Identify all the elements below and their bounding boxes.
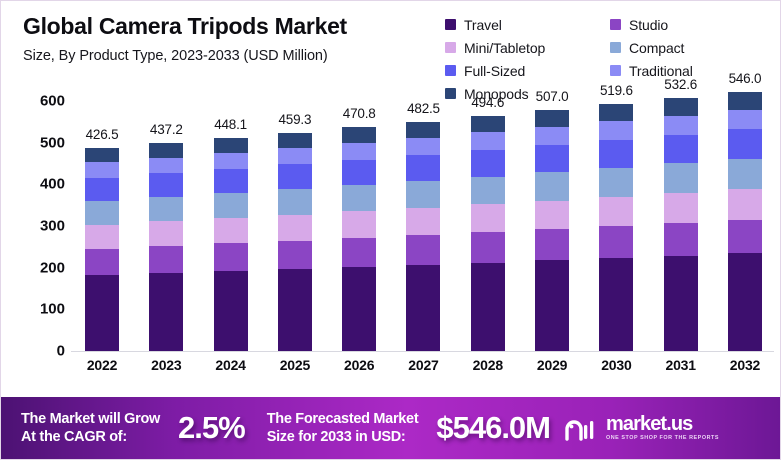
- bar-segment[interactable]: [599, 197, 633, 226]
- bar-segment[interactable]: [149, 158, 183, 174]
- bar-group[interactable]: 426.5: [71, 101, 133, 351]
- bar-segment[interactable]: [664, 163, 698, 193]
- bar-segment[interactable]: [214, 169, 248, 193]
- y-axis-tick-label: 300: [40, 218, 65, 235]
- bar-total-label: 459.3: [264, 112, 326, 127]
- bar-segment[interactable]: [471, 150, 505, 177]
- legend-swatch-icon: [445, 65, 456, 76]
- bar-group[interactable]: 470.8: [328, 101, 390, 351]
- bar-segment[interactable]: [85, 249, 119, 275]
- y-axis-tick-label: 0: [57, 343, 65, 360]
- legend-item-label: Travel: [464, 17, 502, 33]
- bar-segment[interactable]: [599, 104, 633, 121]
- legend-item[interactable]: Compact: [610, 36, 775, 59]
- bar-segment[interactable]: [728, 129, 762, 158]
- y-axis-tick-label: 600: [40, 93, 65, 110]
- bar-segment[interactable]: [278, 215, 312, 241]
- bar-stack: [535, 110, 569, 351]
- logo-tagline: ONE STOP SHOP FOR THE REPORTS: [606, 436, 719, 441]
- x-axis-tick-label: 2026: [328, 357, 390, 373]
- bar-segment[interactable]: [471, 116, 505, 132]
- bar-segment[interactable]: [664, 135, 698, 164]
- bar-total-label: 448.1: [200, 117, 262, 132]
- bar-stack: [278, 133, 312, 351]
- bar-segment[interactable]: [342, 238, 376, 267]
- bar-stack: [664, 98, 698, 351]
- bar-stack: [214, 138, 248, 351]
- bar-segment[interactable]: [535, 127, 569, 145]
- bar-segment[interactable]: [406, 208, 440, 235]
- forecast-value: $546.0M: [436, 410, 550, 446]
- bar-group[interactable]: 437.2: [135, 101, 197, 351]
- x-axis-tick-label: 2025: [264, 357, 326, 373]
- bar-total-label: 532.6: [650, 77, 712, 92]
- forecast-caption-line1: The Forecasted Market: [267, 411, 419, 427]
- bar-segment[interactable]: [728, 92, 762, 110]
- bar-segment[interactable]: [664, 98, 698, 116]
- legend-item[interactable]: Studio: [610, 13, 775, 36]
- x-axis-tick-label: 2032: [714, 357, 776, 373]
- bar-segment[interactable]: [278, 148, 312, 164]
- bar-segment[interactable]: [406, 138, 440, 155]
- bar-segment[interactable]: [664, 256, 698, 351]
- bar-total-label: 519.6: [585, 83, 647, 98]
- bar-segment[interactable]: [664, 116, 698, 135]
- bar-group[interactable]: 459.3: [264, 101, 326, 351]
- bar-segment[interactable]: [535, 172, 569, 201]
- bar-stack: [342, 127, 376, 351]
- bar-segment[interactable]: [599, 168, 633, 197]
- bar-segment[interactable]: [278, 164, 312, 189]
- y-axis-tick-label: 400: [40, 176, 65, 193]
- bar-segment[interactable]: [342, 160, 376, 185]
- bar-segment[interactable]: [728, 159, 762, 190]
- bar-group[interactable]: 448.1: [200, 101, 262, 351]
- x-axis-tick-label: 2023: [135, 357, 197, 373]
- bar-segment[interactable]: [85, 178, 119, 201]
- market-us-wordmark: market.us ONE STOP SHOP FOR THE REPORTS: [606, 414, 719, 441]
- bar-stack: [406, 122, 440, 351]
- bar-segment[interactable]: [278, 189, 312, 215]
- bar-total-label: 507.0: [521, 89, 583, 104]
- x-axis-tick-label: 2024: [200, 357, 262, 373]
- bar-segment[interactable]: [149, 173, 183, 197]
- cagr-caption-line1: The Market will Grow: [21, 411, 160, 427]
- bar-segment[interactable]: [214, 243, 248, 271]
- bar-segment[interactable]: [599, 121, 633, 140]
- legend-swatch-icon: [445, 42, 456, 53]
- bar-group[interactable]: 507.0: [521, 101, 583, 351]
- bar-total-label: 482.5: [392, 101, 454, 116]
- bar-segment[interactable]: [471, 204, 505, 232]
- forecast-caption: The Forecasted Market Size for 2033 in U…: [267, 410, 419, 446]
- legend-item-label: Full-Sized: [464, 63, 525, 79]
- bar-total-label: 437.2: [135, 122, 197, 137]
- bar-segment[interactable]: [342, 185, 376, 212]
- bar-stack: [85, 148, 119, 351]
- legend-item-label: Mini/Tabletop: [464, 40, 545, 56]
- y-axis-tick-label: 200: [40, 259, 65, 276]
- legend-item[interactable]: Mini/Tabletop: [445, 36, 610, 59]
- bar-segment[interactable]: [406, 181, 440, 208]
- bar-segment[interactable]: [85, 225, 119, 249]
- legend-swatch-icon: [610, 19, 621, 30]
- legend-item-label: Compact: [629, 40, 684, 56]
- logo-name: market.us: [606, 414, 719, 434]
- bar-segment[interactable]: [214, 218, 248, 243]
- footer-banner: The Market will Grow At the CAGR of: 2.5…: [1, 397, 781, 459]
- bar-total-label: 470.8: [328, 106, 390, 121]
- bar-segment[interactable]: [664, 223, 698, 256]
- bar-segment[interactable]: [728, 220, 762, 254]
- y-axis-tick-label: 100: [40, 301, 65, 318]
- chart-page: Global Camera Tripods Market Size, By Pr…: [0, 0, 781, 460]
- bar-stack: [728, 92, 762, 351]
- bar-segment[interactable]: [342, 267, 376, 351]
- bar-segment[interactable]: [214, 153, 248, 169]
- bar-segment[interactable]: [85, 162, 119, 177]
- bar-segment[interactable]: [599, 258, 633, 351]
- bar-segment[interactable]: [214, 271, 248, 351]
- bar-segment[interactable]: [728, 253, 762, 351]
- bar-segment[interactable]: [278, 269, 312, 351]
- x-axis-line: [71, 351, 774, 352]
- x-axis-tick-label: 2030: [585, 357, 647, 373]
- chart-plot-area: 0100200300400500600 426.5437.2448.1459.3…: [1, 101, 781, 386]
- bar-segment[interactable]: [406, 122, 440, 138]
- bar-segment[interactable]: [535, 229, 569, 260]
- bar-segment[interactable]: [149, 246, 183, 273]
- legend-swatch-icon: [445, 19, 456, 30]
- x-axis-tick-label: 2029: [521, 357, 583, 373]
- legend-item[interactable]: Travel: [445, 13, 610, 36]
- bar-series-container: 426.5437.2448.1459.3470.8482.5494.6507.0…: [71, 101, 776, 351]
- bar-total-label: 546.0: [714, 71, 776, 86]
- bar-segment[interactable]: [278, 241, 312, 269]
- page-subtitle: Size, By Product Type, 2023-2033 (USD Mi…: [23, 48, 443, 64]
- y-axis: 0100200300400500600: [17, 101, 65, 351]
- bar-group[interactable]: 494.6: [457, 101, 519, 351]
- bar-segment[interactable]: [149, 221, 183, 246]
- bar-segment[interactable]: [342, 211, 376, 238]
- bar-segment[interactable]: [406, 155, 440, 181]
- bar-segment[interactable]: [85, 148, 119, 162]
- bar-segment[interactable]: [471, 177, 505, 205]
- bar-segment[interactable]: [149, 273, 183, 351]
- bar-segment[interactable]: [149, 143, 183, 157]
- bar-stack: [599, 104, 633, 351]
- bar-segment[interactable]: [535, 201, 569, 230]
- bar-total-label: 426.5: [71, 127, 133, 142]
- bar-segment[interactable]: [599, 226, 633, 258]
- y-axis-tick-label: 500: [40, 134, 65, 151]
- bar-segment[interactable]: [149, 197, 183, 222]
- x-axis-tick-label: 2028: [457, 357, 519, 373]
- bar-segment[interactable]: [599, 140, 633, 168]
- bar-segment[interactable]: [342, 143, 376, 160]
- bar-segment[interactable]: [85, 275, 119, 351]
- legend-swatch-icon: [445, 88, 456, 99]
- bar-segment[interactable]: [728, 189, 762, 220]
- bar-stack: [471, 116, 505, 351]
- bar-group[interactable]: 546.0: [714, 101, 776, 351]
- x-axis-tick-label: 2022: [71, 357, 133, 373]
- bar-segment[interactable]: [535, 145, 569, 172]
- market-us-logo[interactable]: market.us ONE STOP SHOP FOR THE REPORTS: [564, 413, 719, 443]
- bar-segment[interactable]: [535, 260, 569, 351]
- bar-group[interactable]: 519.6: [585, 101, 647, 351]
- bar-stack: [149, 143, 183, 351]
- market-us-mark-icon: [564, 413, 598, 443]
- bar-segment[interactable]: [664, 193, 698, 223]
- bar-segment[interactable]: [406, 265, 440, 351]
- legend-item[interactable]: Full-Sized: [445, 59, 610, 82]
- bar-group[interactable]: 482.5: [392, 101, 454, 351]
- bar-segment[interactable]: [214, 193, 248, 218]
- bar-segment[interactable]: [85, 201, 119, 225]
- bar-group[interactable]: 532.6: [650, 101, 712, 351]
- chart-header: Global Camera Tripods Market Size, By Pr…: [23, 13, 443, 64]
- forecast-caption-line2: Size for 2033 in USD:: [267, 429, 406, 445]
- x-axis-tick-label: 2031: [650, 357, 712, 373]
- page-title: Global Camera Tripods Market: [23, 13, 443, 39]
- bar-segment[interactable]: [728, 110, 762, 130]
- bar-total-label: 494.6: [457, 95, 519, 110]
- bar-segment[interactable]: [471, 132, 505, 150]
- x-axis-tick-label: 2027: [392, 357, 454, 373]
- bar-segment[interactable]: [342, 127, 376, 143]
- bar-segment[interactable]: [471, 263, 505, 351]
- bar-segment[interactable]: [535, 110, 569, 127]
- bar-segment[interactable]: [214, 138, 248, 153]
- legend-swatch-icon: [610, 65, 621, 76]
- legend-item-label: Studio: [629, 17, 668, 33]
- bar-segment[interactable]: [471, 232, 505, 262]
- cagr-value: 2.5%: [178, 410, 245, 446]
- cagr-caption: The Market will Grow At the CAGR of:: [21, 410, 160, 446]
- legend-swatch-icon: [610, 42, 621, 53]
- bar-segment[interactable]: [406, 235, 440, 265]
- cagr-caption-line2: At the CAGR of:: [21, 429, 127, 445]
- x-axis: 2022202320242025202620272028202920302031…: [71, 357, 776, 373]
- bar-segment[interactable]: [278, 133, 312, 148]
